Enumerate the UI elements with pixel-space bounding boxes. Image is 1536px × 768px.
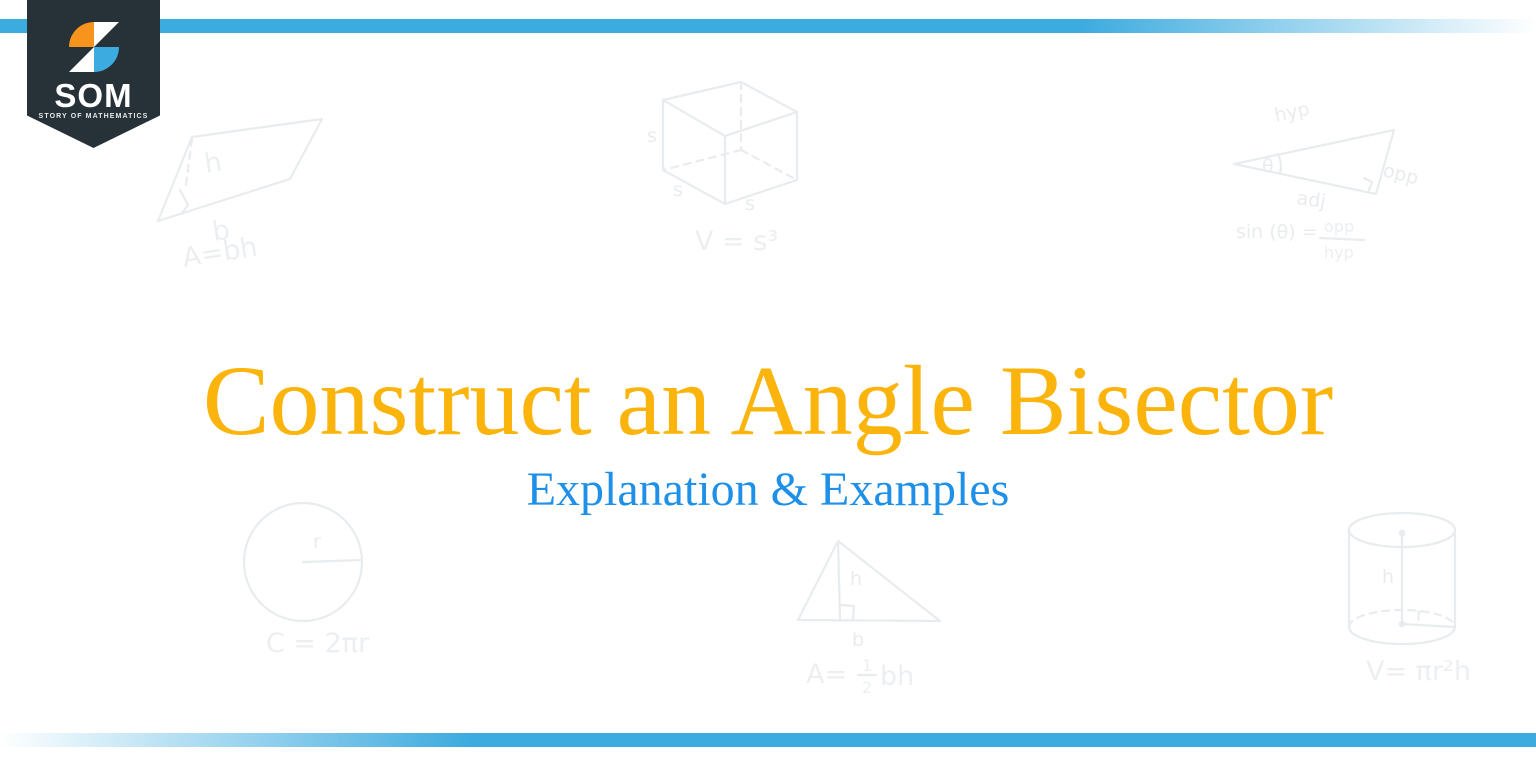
triangle-formula-denominator: 2 xyxy=(862,678,872,697)
cylinder-radius-label: r xyxy=(1416,604,1424,626)
som-tagline: STORY OF MATHEMATICS xyxy=(27,113,160,120)
som-logo-mark-icon xyxy=(67,20,121,74)
parallelogram-formula: A=bh xyxy=(180,232,259,274)
cylinder-formula: V= πr²h xyxy=(1366,656,1471,687)
trig-formula-left: sin (θ) = xyxy=(1236,221,1318,243)
top-accent-bar xyxy=(0,19,1536,33)
parallelogram-height-label: h xyxy=(202,147,224,180)
triangle-height-label: h xyxy=(850,568,862,590)
cube-side-label-front: s xyxy=(673,179,683,201)
triangle-formula-a: A= xyxy=(806,659,847,690)
triangle-area-figure: h b A= 1 2 bh xyxy=(790,525,970,695)
cube-formula: V = s³ xyxy=(695,226,778,257)
parallelogram-figure: h b A=bh xyxy=(150,115,330,275)
cube-side-label-bottom: s xyxy=(745,193,755,215)
page-title: Construct an Angle Bisector xyxy=(0,349,1536,453)
slide-canvas: h b A=bh s s s V = s³ hyp θ adj opp xyxy=(0,0,1536,768)
triangle-base-label: b xyxy=(852,629,864,651)
triangle-formula-numerator: 1 xyxy=(862,656,872,675)
cylinder-figure: h r V= πr²h xyxy=(1340,505,1510,695)
circle-radius-label: r xyxy=(313,531,321,553)
page-subtitle: Explanation & Examples xyxy=(0,462,1536,518)
triangle-hyp-label: hyp xyxy=(1272,98,1311,127)
trig-formula-denominator: hyp xyxy=(1324,243,1354,262)
triangle-opp-label: opp xyxy=(1381,160,1421,190)
som-logo-badge[interactable]: SOM STORY OF MATHEMATICS xyxy=(27,0,160,148)
cube-side-label-left: s xyxy=(647,125,657,147)
triangle-formula-tail: bh xyxy=(880,661,914,692)
triangle-theta-label: θ xyxy=(1262,155,1274,177)
trig-formula-numerator: opp xyxy=(1324,217,1354,236)
circle-formula: C = 2πr xyxy=(266,628,370,659)
triangle-adj-label: adj xyxy=(1295,187,1327,213)
cube-figure: s s s V = s³ xyxy=(645,78,825,258)
bottom-accent-bar xyxy=(0,733,1536,747)
circle-figure: r C = 2πr xyxy=(238,500,408,670)
som-wordmark: SOM xyxy=(27,79,160,112)
cylinder-height-label: h xyxy=(1382,566,1394,588)
right-triangle-trig-figure: hyp θ adj opp sin (θ) = opp hyp xyxy=(1232,104,1432,274)
